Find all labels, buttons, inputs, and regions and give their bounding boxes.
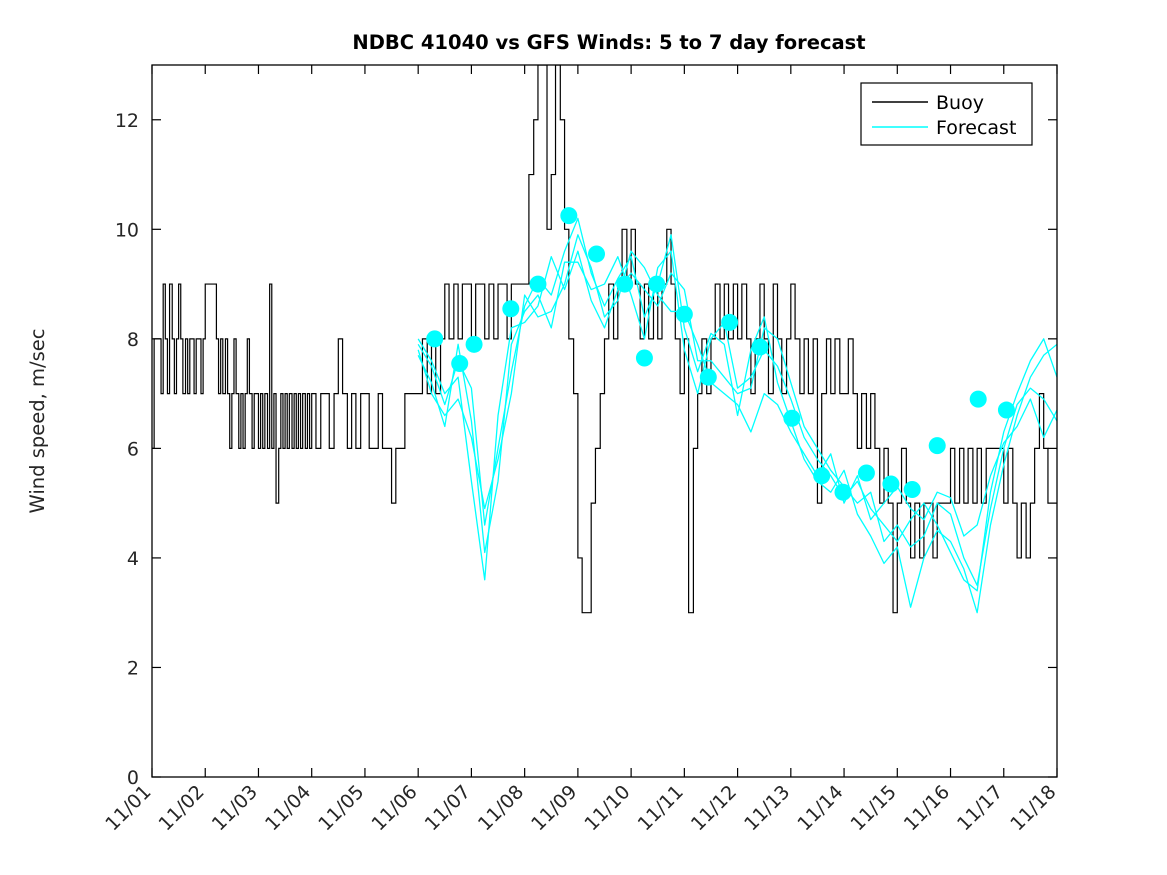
forecast-point-14 xyxy=(783,410,800,427)
forecast-point-22 xyxy=(998,402,1015,419)
wind-speed-chart: NDBC 41040 vs GFS Winds: 5 to 7 day fore… xyxy=(0,0,1167,875)
forecast-point-6 xyxy=(588,245,605,262)
forecast-point-8 xyxy=(636,350,653,367)
y-tick-label-2: 4 xyxy=(127,548,139,570)
y-tick-label-5: 10 xyxy=(115,219,139,241)
forecast-point-12 xyxy=(721,314,738,331)
forecast-point-4 xyxy=(529,276,546,293)
chart-title: NDBC 41040 vs GFS Winds: 5 to 7 day fore… xyxy=(352,31,865,54)
forecast-point-17 xyxy=(858,465,875,482)
forecast-point-15 xyxy=(813,467,830,484)
forecast-point-11 xyxy=(700,369,717,386)
legend-label-forecast: Forecast xyxy=(936,117,1016,139)
chart-legend[interactable]: Buoy Forecast xyxy=(861,83,1032,145)
forecast-point-20 xyxy=(929,437,946,454)
forecast-point-7 xyxy=(616,276,633,293)
y-tick-label-4: 8 xyxy=(127,329,139,351)
forecast-point-2 xyxy=(466,336,483,353)
y-tick-label-3: 6 xyxy=(127,438,139,460)
forecast-point-5 xyxy=(560,207,577,224)
forecast-point-21 xyxy=(970,391,987,408)
legend-label-buoy: Buoy xyxy=(936,92,984,114)
forecast-point-16 xyxy=(834,484,851,501)
forecast-point-10 xyxy=(676,306,693,323)
forecast-point-13 xyxy=(751,339,768,356)
forecast-point-18 xyxy=(882,475,899,492)
forecast-point-9 xyxy=(648,276,665,293)
figure-container: NDBC 41040 vs GFS Winds: 5 to 7 day fore… xyxy=(0,0,1167,875)
forecast-point-0 xyxy=(426,330,443,347)
y-tick-label-1: 2 xyxy=(127,657,139,679)
y-axis-label: Wind speed, m/sec xyxy=(26,329,49,514)
y-tick-label-6: 12 xyxy=(115,110,139,132)
forecast-point-1 xyxy=(451,355,468,372)
forecast-point-3 xyxy=(502,300,519,317)
forecast-point-19 xyxy=(904,481,921,498)
